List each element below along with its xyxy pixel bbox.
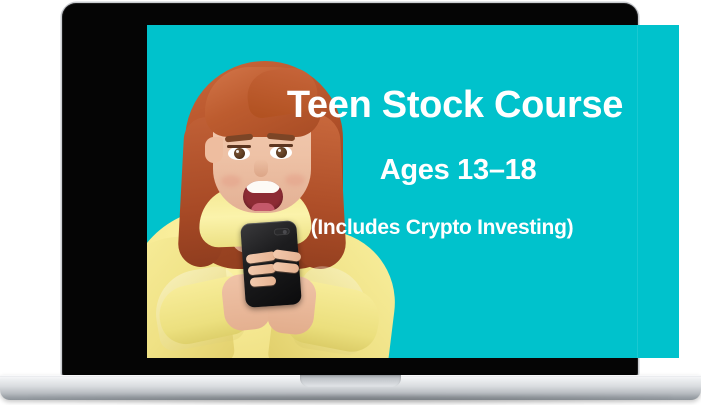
scene-stage: Teen Stock Course Ages 13–18 (Includes C…	[0, 0, 701, 405]
slide-title: Teen Stock Course	[147, 83, 679, 127]
laptop-lid: Teen Stock Course Ages 13–18 (Includes C…	[62, 3, 638, 377]
laptop-screen: Teen Stock Course Ages 13–18 (Includes C…	[147, 25, 679, 358]
laptop-drop-shadow	[30, 396, 671, 405]
slide-text-block: Teen Stock Course Ages 13–18 (Includes C…	[147, 25, 679, 358]
slide-subtitle: Ages 13–18	[147, 153, 679, 187]
laptop-base-notch	[300, 375, 401, 387]
laptop-mockup: Teen Stock Course Ages 13–18 (Includes C…	[0, 0, 701, 405]
slide-note: (Includes Crypto Investing)	[147, 215, 679, 241]
